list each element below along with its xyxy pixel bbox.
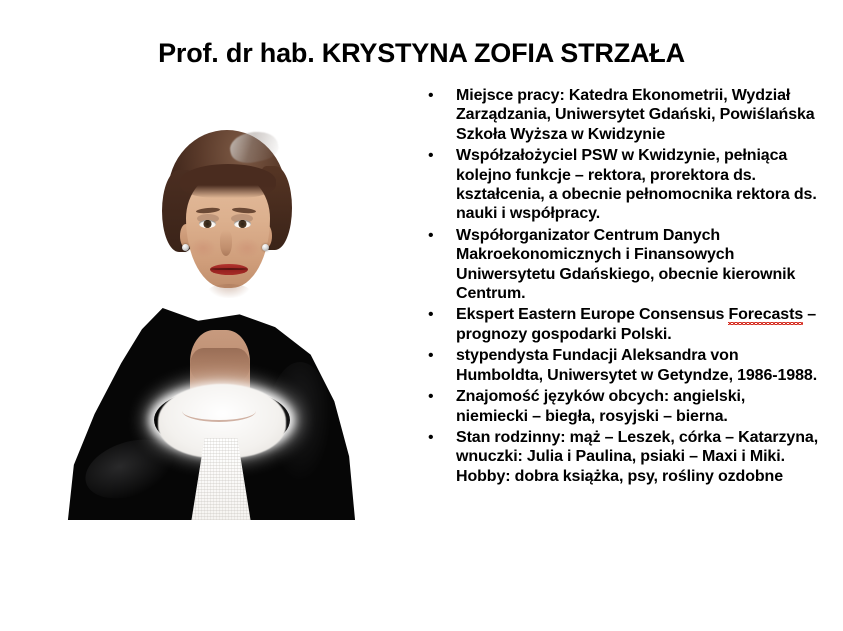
earring-left xyxy=(182,244,189,251)
list-item: • Współzałożyciel PSW w Kwidzynie, pełni… xyxy=(420,146,820,224)
nose xyxy=(220,230,232,256)
list-item: • Miejsce pracy: Katedra Ekonometrii, Wy… xyxy=(420,86,820,144)
page-title: Prof. dr hab. KRYSTYNA ZOFIA STRZAŁA xyxy=(0,36,843,70)
biography-bullet-list: • Miejsce pracy: Katedra Ekonometrii, Wy… xyxy=(420,86,820,488)
eye-right xyxy=(234,220,251,228)
bullet-marker-icon: • xyxy=(420,346,456,365)
lips-center-line xyxy=(210,268,248,270)
list-item-text: Współzałożyciel PSW w Kwidzynie, pełniąc… xyxy=(456,146,820,224)
bullet-marker-icon: • xyxy=(420,226,456,245)
presentation-slide: Prof. dr hab. KRYSTYNA ZOFIA STRZAŁA xyxy=(0,0,843,631)
list-item-text: stypendysta Fundacji Aleksandra von Humb… xyxy=(456,346,820,385)
neck-shadow xyxy=(190,348,250,382)
necklace xyxy=(182,400,256,422)
bullet-marker-icon: • xyxy=(420,305,456,324)
list-item-text: Stan rodzinny: mąż – Leszek, córka – Kat… xyxy=(456,428,820,486)
hair-fringe xyxy=(180,164,276,198)
cheek-left xyxy=(190,238,216,258)
eye-left xyxy=(199,220,216,228)
list-item: • stypendysta Fundacji Aleksandra von Hu… xyxy=(420,346,820,385)
misspelled-word: Forecasts xyxy=(728,306,803,325)
bullet-marker-icon: • xyxy=(420,86,456,105)
list-item: • Współorganizator Centrum Danych Makroe… xyxy=(420,226,820,304)
bullet-marker-icon: • xyxy=(420,428,456,447)
list-item-text: Miejsce pracy: Katedra Ekonometrii, Wydz… xyxy=(456,86,820,144)
cheek-right xyxy=(234,238,260,258)
list-item-text: Ekspert Eastern Europe Consensus Forecas… xyxy=(456,305,820,344)
chin-shadow xyxy=(208,284,250,298)
list-item-text: Znajomość języków obcych: angielski, nie… xyxy=(456,387,820,426)
list-item: • Znajomość języków obcych: angielski, n… xyxy=(420,387,820,426)
bullet-marker-icon: • xyxy=(420,387,456,406)
earring-right xyxy=(262,244,269,251)
list-item-text: Współorganizator Centrum Danych Makroeko… xyxy=(456,226,820,304)
bullet-marker-icon: • xyxy=(420,146,456,165)
list-item: • Ekspert Eastern Europe Consensus Forec… xyxy=(420,305,820,344)
portrait-photo xyxy=(62,112,358,520)
list-item: • Stan rodzinny: mąż – Leszek, córka – K… xyxy=(420,428,820,486)
list-item-text-before: Ekspert Eastern Europe Consensus xyxy=(456,306,728,323)
